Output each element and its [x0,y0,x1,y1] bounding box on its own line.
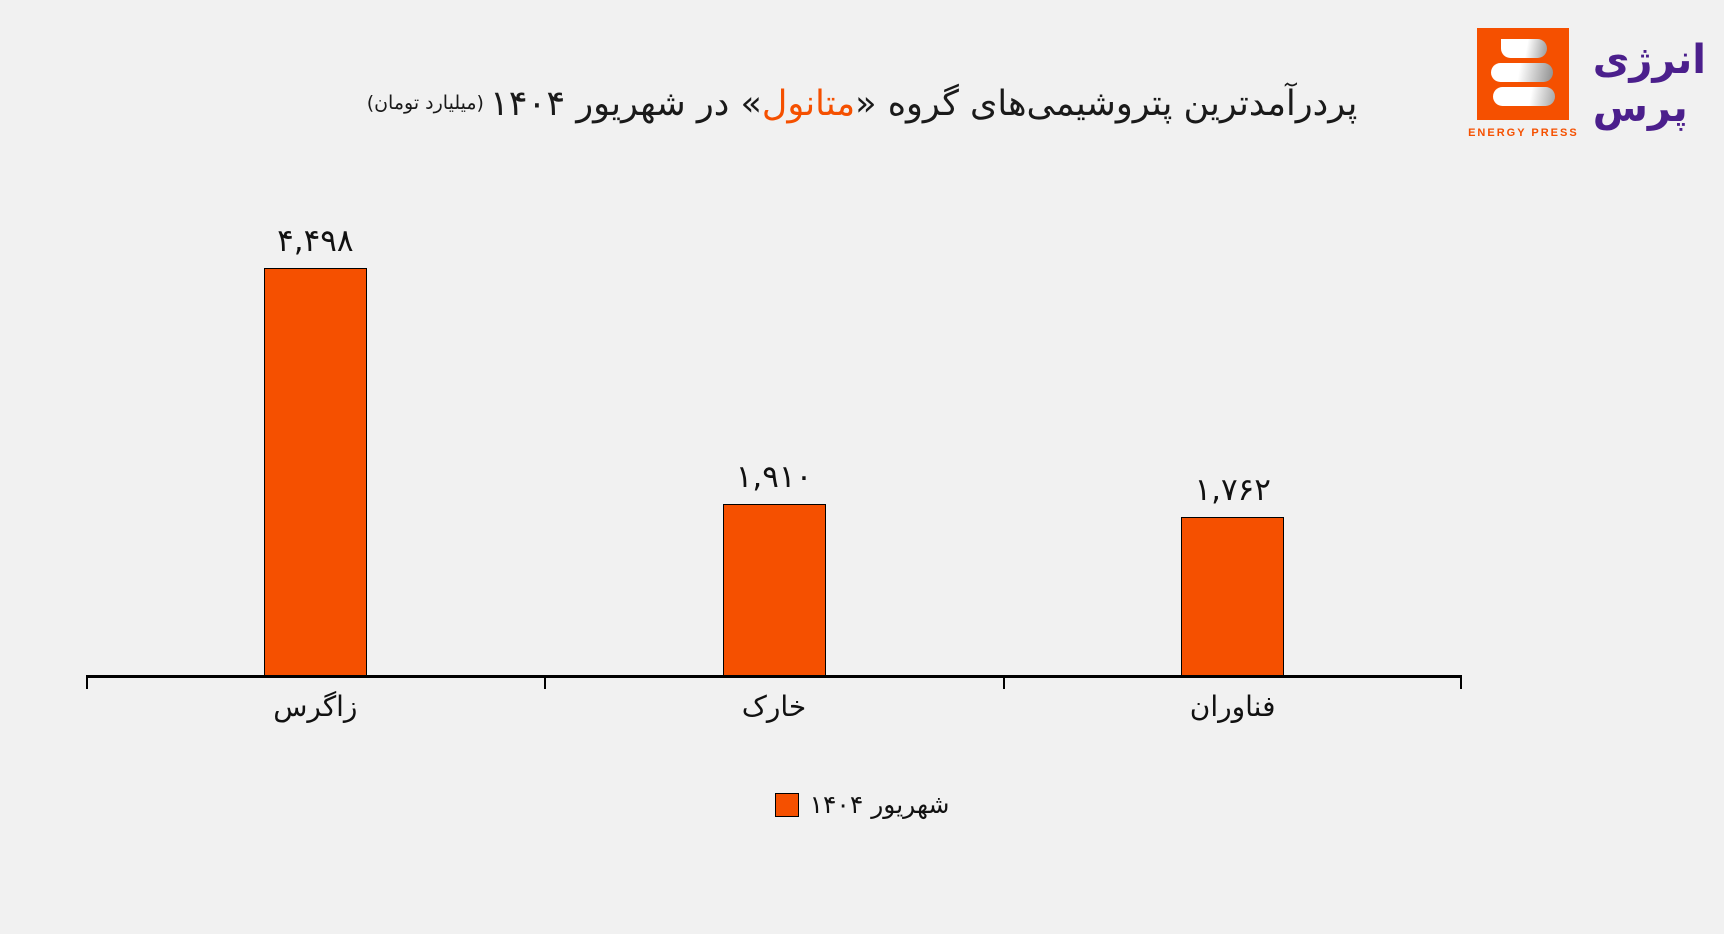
x-axis-label-fanavaran: فناوران [1003,690,1462,723]
axis-tick [544,678,546,689]
bar-slot-khark: ۱,۹۱۰ [545,150,1004,678]
legend-item-label: شهریور ۱۴۰۴ [810,790,950,819]
legend-color-swatch [775,793,799,817]
logo-caption: ENERGY PRESS [1468,127,1579,139]
title-part-after: » در شهریور ۱۴۰۴ [490,84,762,124]
chart-legend: شهریور ۱۴۰۴ [0,790,1724,819]
bar-value-label: ۱,۷۶۲ [1194,472,1270,508]
bar-slot-zagros: ۴,۴۹۸ [86,150,545,678]
logo-wordmark-line1: انرژی [1593,36,1706,84]
x-axis-line [86,675,1462,678]
title-row: پردرآمدترین پتروشیمی‌های گروه «متانول» د… [0,84,1724,124]
title-part-before: پردرآمدترین پتروشیمی‌های گروه « [855,84,1357,124]
axis-tick [1003,678,1005,689]
bar-value-label: ۴,۴۹۸ [277,223,353,259]
table-row[interactable] [1181,517,1284,678]
x-axis-label-zagros: زاگرس [86,690,545,723]
title-highlight-methanol: متانول [762,84,855,124]
bar-group: ۴,۴۹۸ ۱,۹۱۰ ۱,۷۶۲ [86,150,1462,678]
bar-value-label: ۱,۹۱۰ [736,459,812,495]
table-row[interactable] [723,504,826,678]
axis-tick [1460,678,1462,689]
bar-slot-fanavaran: ۱,۷۶۲ [1003,150,1462,678]
axis-tick [86,678,88,689]
table-row[interactable] [264,268,367,678]
x-axis-category-labels: زاگرس خارک فناوران [86,690,1462,723]
x-axis-label-khark: خارک [545,690,1004,723]
chart-plot-area: ۴,۴۹۸ ۱,۹۱۰ ۱,۷۶۲ [86,150,1462,678]
page-title: پردرآمدترین پتروشیمی‌های گروه «متانول» د… [490,84,1357,124]
title-unit-subtitle: (میلیارد تومان) [367,92,484,114]
